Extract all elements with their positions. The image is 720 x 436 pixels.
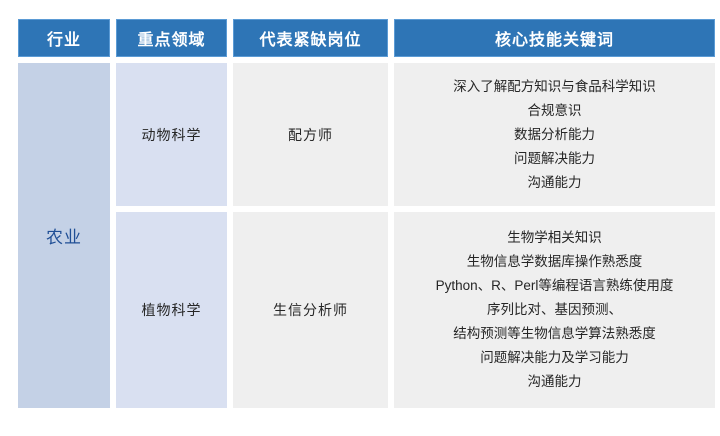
table-row: 植物科学 生信分析师 生物学相关知识 生物信息学数据库操作熟悉度 Python、…: [18, 212, 715, 408]
skill-line: 生物学相关知识: [402, 226, 707, 250]
skill-line: 沟通能力: [402, 370, 707, 394]
table-header: 行业 重点领域 代表紧缺岗位 核心技能关键词: [18, 19, 715, 57]
cell-field-plant-science: 植物科学: [116, 212, 227, 408]
cell-role-bioinformatics-analyst: 生信分析师: [233, 212, 388, 408]
skill-line: 生物信息学数据库操作熟悉度: [402, 250, 707, 274]
cell-field-animal-science: 动物科学: [116, 63, 227, 206]
cell-skills-plant-science: 生物学相关知识 生物信息学数据库操作熟悉度 Python、R、Perl等编程语言…: [394, 212, 715, 408]
skill-line: Python、R、Perl等编程语言熟练使用度: [402, 274, 707, 298]
cell-skills-animal-science: 深入了解配方知识与食品科学知识 合规意识 数据分析能力 问题解决能力 沟通能力: [394, 63, 715, 206]
header-cell-skills: 核心技能关键词: [394, 19, 715, 57]
skill-line: 结构预测等生物信息学算法熟悉度: [402, 322, 707, 346]
skill-line: 沟通能力: [402, 171, 707, 195]
header-cell-industry: 行业: [18, 19, 110, 57]
skill-line: 序列比对、基因预测、: [402, 298, 707, 322]
cell-industry-agriculture: 农业: [18, 63, 110, 408]
skill-line: 合规意识: [402, 99, 707, 123]
skills-table-container: 行业 重点领域 代表紧缺岗位 核心技能关键词 农业 动物科学 配方师 深入了解配…: [18, 19, 703, 420]
skill-line: 问题解决能力: [402, 147, 707, 171]
shortage-roles-table: 行业 重点领域 代表紧缺岗位 核心技能关键词 农业 动物科学 配方师 深入了解配…: [12, 13, 720, 414]
skill-line: 问题解决能力及学习能力: [402, 346, 707, 370]
header-cell-field: 重点领域: [116, 19, 227, 57]
header-row: 行业 重点领域 代表紧缺岗位 核心技能关键词: [18, 19, 715, 57]
cell-role-formulator: 配方师: [233, 63, 388, 206]
table-body: 农业 动物科学 配方师 深入了解配方知识与食品科学知识 合规意识 数据分析能力 …: [18, 63, 715, 408]
skill-line: 深入了解配方知识与食品科学知识: [402, 75, 707, 99]
skill-line: 数据分析能力: [402, 123, 707, 147]
header-cell-role: 代表紧缺岗位: [233, 19, 388, 57]
table-row: 农业 动物科学 配方师 深入了解配方知识与食品科学知识 合规意识 数据分析能力 …: [18, 63, 715, 206]
